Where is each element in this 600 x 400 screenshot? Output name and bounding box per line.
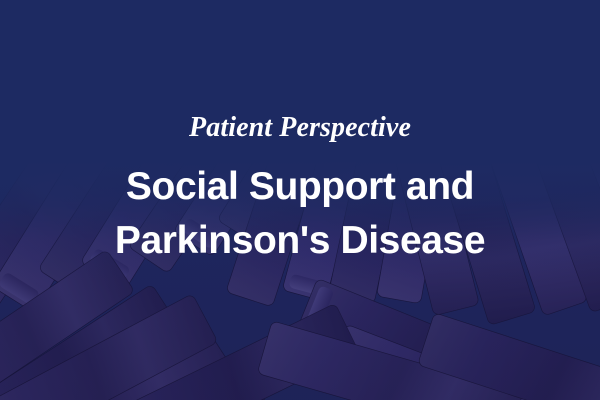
eyebrow-label: Patient Perspective (189, 113, 411, 144)
page-title: Social Support and Parkinson's Disease (115, 160, 485, 268)
title-card-graphic: Patient Perspective Social Support and P… (0, 0, 600, 400)
title-text-block: Patient Perspective Social Support and P… (0, 0, 600, 400)
